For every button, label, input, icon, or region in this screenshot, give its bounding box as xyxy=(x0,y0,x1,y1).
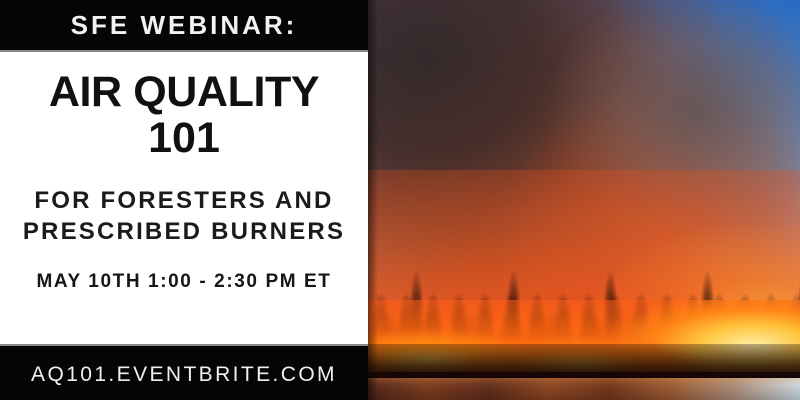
registration-url[interactable]: AQ101.EVENTBRITE.COM xyxy=(31,364,337,385)
event-datetime: MAY 10TH 1:00 - 2:30 PM ET xyxy=(36,272,331,291)
eyebrow-bar: SFE WEBINAR: xyxy=(0,0,368,52)
audience-subtitle: FOR FORESTERS AND PRESCRIBED BURNERS xyxy=(19,185,349,247)
panel-body: AIR QUALITY 101 FOR FORESTERS AND PRESCR… xyxy=(0,52,368,344)
page-title-line2: 101 xyxy=(148,116,220,162)
webinar-promo-poster: SFE WEBINAR: AIR QUALITY 101 FOR FORESTE… xyxy=(0,0,800,400)
water-reflection xyxy=(368,378,800,400)
eyebrow-text: SFE WEBINAR: xyxy=(71,12,298,38)
wildfire-photo xyxy=(368,0,800,400)
photo-edge-shadow xyxy=(368,0,378,400)
text-panel: SFE WEBINAR: AIR QUALITY 101 FOR FORESTE… xyxy=(0,0,368,400)
url-bar[interactable]: AQ101.EVENTBRITE.COM xyxy=(0,344,368,400)
page-title-line1: AIR QUALITY xyxy=(49,70,319,116)
